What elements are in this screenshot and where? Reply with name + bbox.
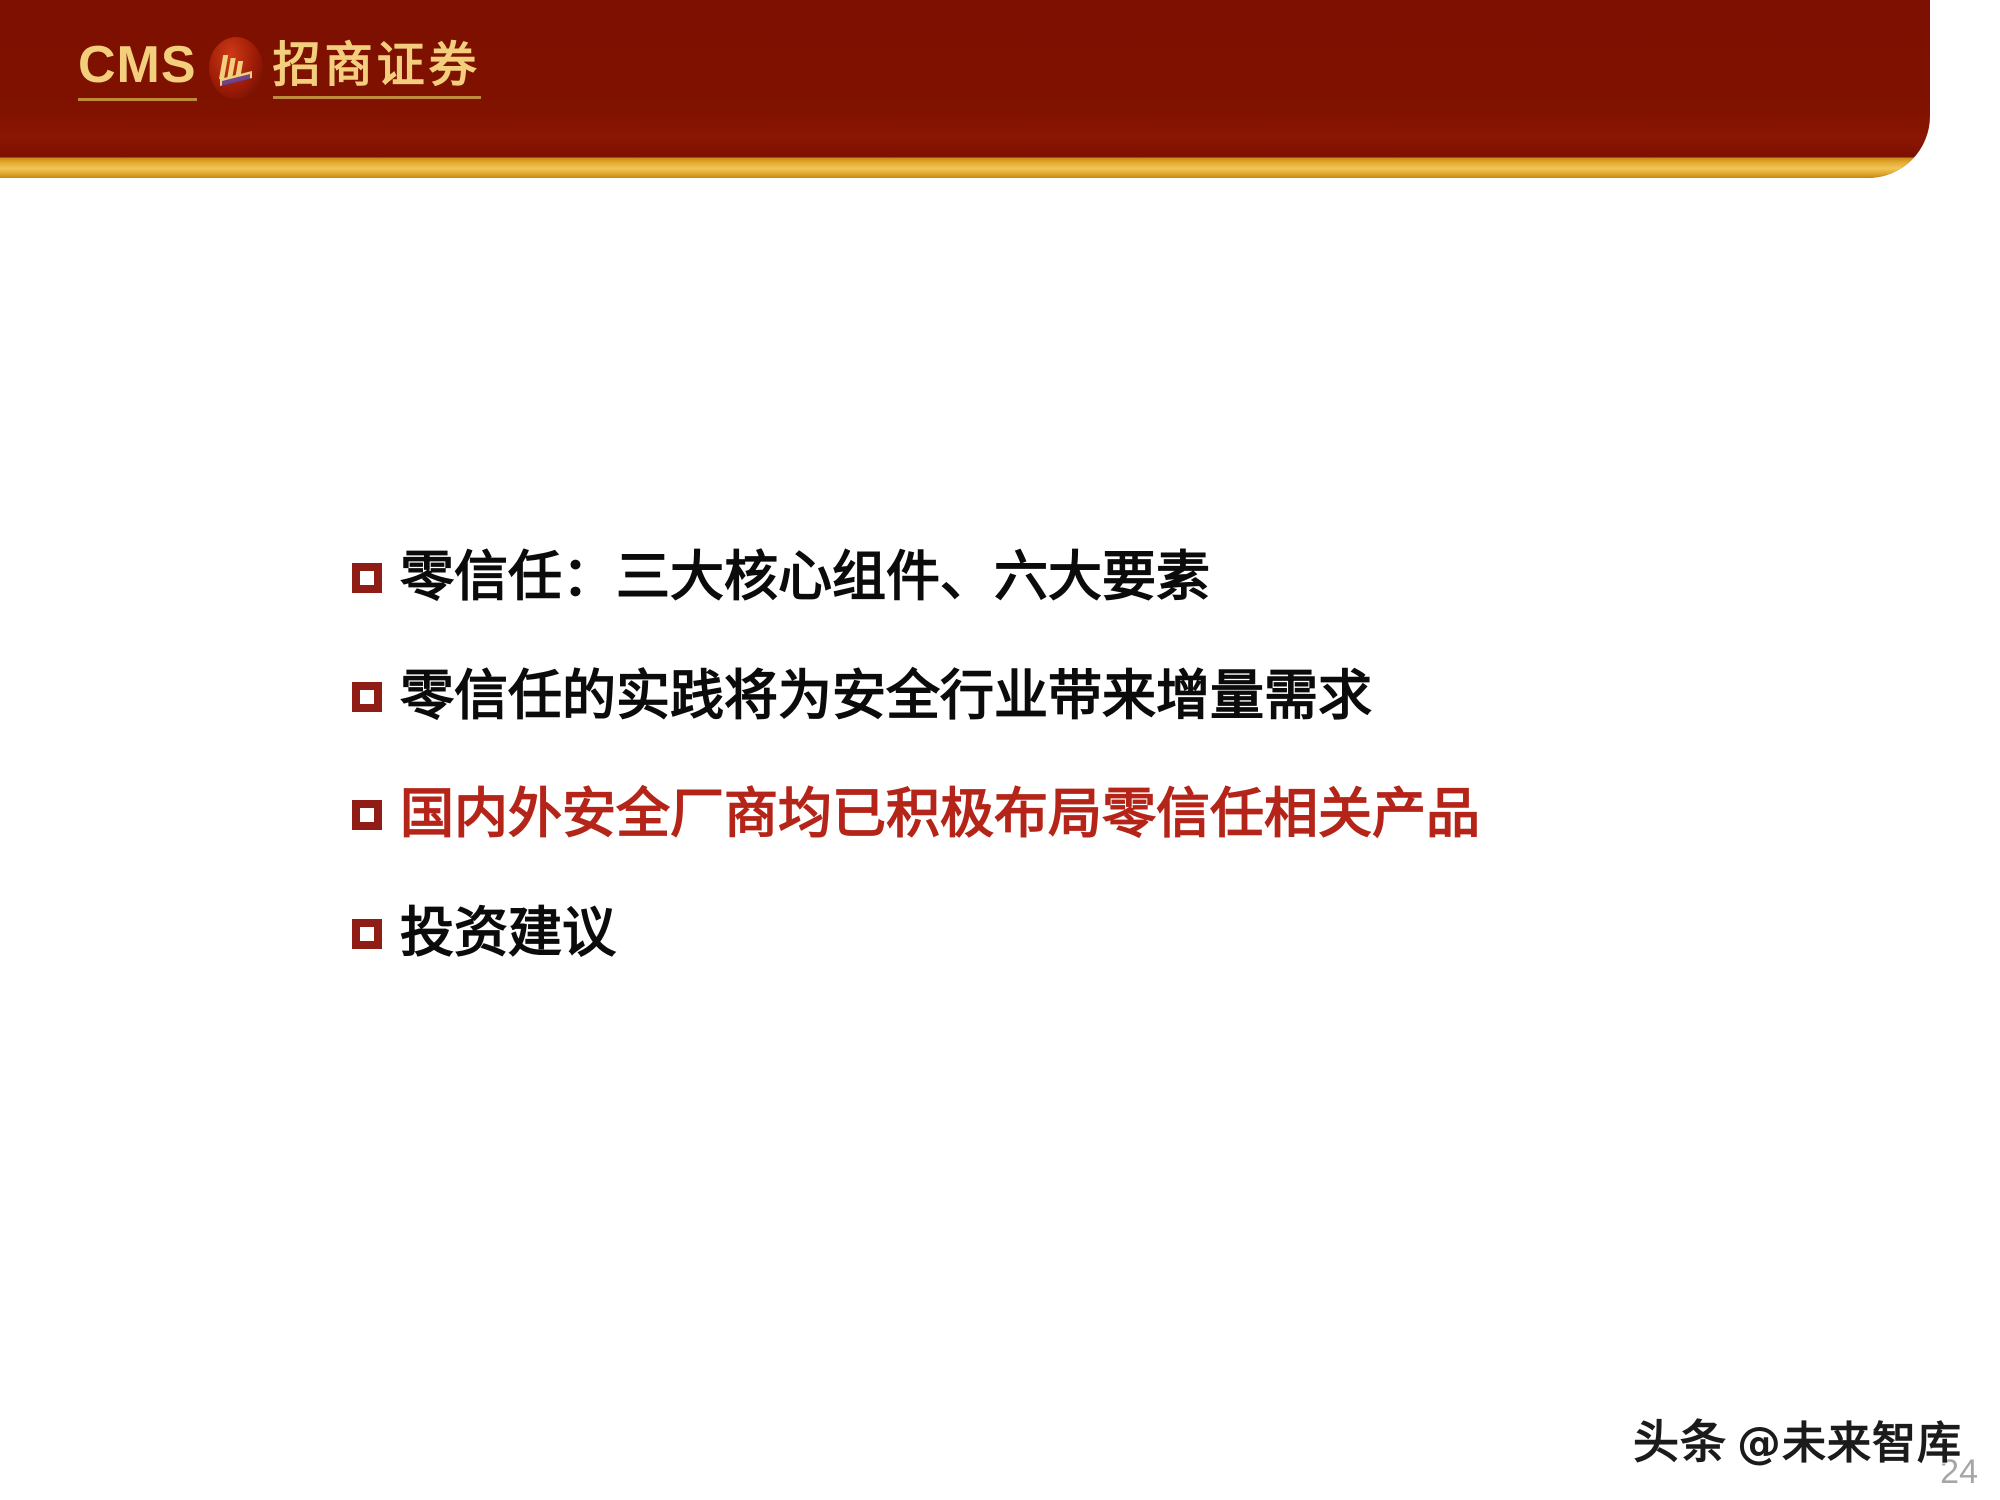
list-item-label: 零信任：三大核心组件、六大要素 bbox=[400, 545, 1210, 609]
watermark-prefix: 头条 bbox=[1633, 1406, 1727, 1472]
cms-emblem-icon bbox=[209, 37, 263, 99]
slide-canvas: CMS 招商证券 零信任：三大核心组件、六大要素 bbox=[0, 0, 2000, 1500]
brand-logo: CMS 招商证券 bbox=[78, 34, 481, 102]
watermark-handle: @未来智库 bbox=[1737, 1407, 1962, 1471]
header-gold-band bbox=[0, 158, 1930, 178]
hollow-square-bullet-icon bbox=[352, 919, 382, 949]
list-item-label-highlighted: 国内外安全厂商均已积极布局零信任相关产品 bbox=[400, 782, 1480, 846]
list-item[interactable]: 零信任：三大核心组件、六大要素 bbox=[352, 545, 1752, 609]
list-item-label: 投资建议 bbox=[400, 901, 616, 965]
list-item[interactable]: 投资建议 bbox=[352, 901, 1752, 965]
brand-latin-text: CMS bbox=[78, 39, 197, 97]
list-item[interactable]: 国内外安全厂商均已积极布局零信任相关产品 bbox=[352, 782, 1752, 846]
list-item[interactable]: 零信任的实践将为安全行业带来增量需求 bbox=[352, 664, 1752, 728]
hollow-square-bullet-icon bbox=[352, 800, 382, 830]
list-item-label: 零信任的实践将为安全行业带来增量需求 bbox=[400, 664, 1372, 728]
hollow-square-bullet-icon bbox=[352, 682, 382, 712]
hollow-square-bullet-icon bbox=[352, 563, 382, 593]
brand-cn-text: 招商证券 bbox=[273, 41, 481, 95]
slide-header-bar: CMS 招商证券 bbox=[0, 0, 1930, 178]
watermark: 头条 @未来智库 bbox=[1633, 1406, 1962, 1472]
agenda-bullet-list: 零信任：三大核心组件、六大要素 零信任的实践将为安全行业带来增量需求 国内外安全… bbox=[352, 545, 1752, 965]
